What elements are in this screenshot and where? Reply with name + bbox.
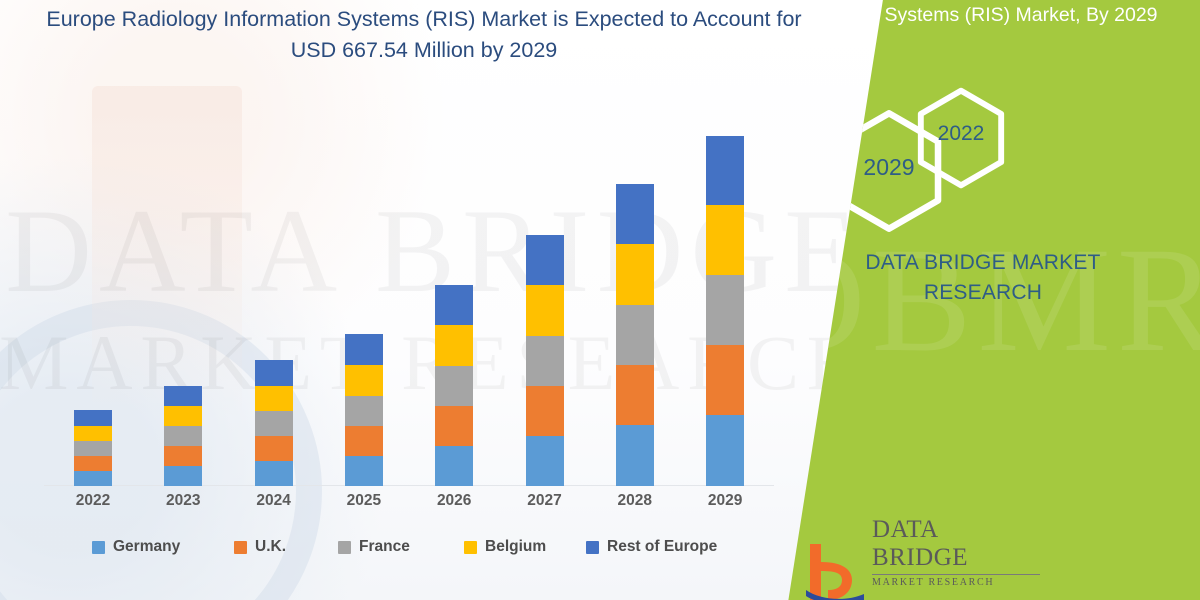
x-axis-label-2027: 2027 bbox=[515, 492, 575, 510]
logo-subtitle: MARKET RESEARCH bbox=[872, 574, 1040, 588]
bar-segment-belgium-2024 bbox=[255, 386, 293, 411]
bar-segment-germany-2022 bbox=[74, 471, 112, 486]
bar-segment-france-2024 bbox=[255, 411, 293, 436]
bar-segment-germany-2023 bbox=[164, 466, 202, 486]
x-axis-labels: 20222023202420252026202720282029 bbox=[0, 492, 800, 518]
legend-swatch-icon bbox=[338, 541, 351, 554]
x-axis-label-2022: 2022 bbox=[63, 492, 123, 510]
infographic-canvas: DATA BRIDGE MARKET RESEARCH Europe Radio… bbox=[0, 0, 1200, 600]
legend-item-belgium[interactable]: Belgium bbox=[464, 538, 546, 556]
bar-segment-rest-of-europe-2022 bbox=[74, 410, 112, 426]
logo-bridge-icon bbox=[800, 540, 866, 600]
legend-swatch-icon bbox=[234, 541, 247, 554]
bar-segment-rest-of-europe-2026 bbox=[435, 285, 473, 325]
legend-label: Germany bbox=[113, 538, 180, 556]
bar-segment-belgium-2027 bbox=[526, 285, 564, 336]
legend-swatch-icon bbox=[92, 541, 105, 554]
x-axis-label-2029: 2029 bbox=[695, 492, 755, 510]
legend-swatch-icon bbox=[586, 541, 599, 554]
bar-segment-u-k-2022 bbox=[74, 456, 112, 471]
bar-segment-belgium-2028 bbox=[616, 244, 654, 305]
bar-2023 bbox=[164, 386, 202, 486]
bar-segment-u-k-2028 bbox=[616, 365, 654, 425]
bar-segment-belgium-2029 bbox=[706, 205, 744, 275]
chart-plot-area bbox=[0, 110, 800, 486]
bar-2028 bbox=[616, 184, 654, 486]
chart-legend: GermanyU.K.FranceBelgiumRest of Europe bbox=[0, 538, 800, 566]
brand-name-line-2: RESEARCH bbox=[780, 278, 1186, 308]
legend-item-germany[interactable]: Germany bbox=[92, 538, 180, 556]
bar-segment-germany-2024 bbox=[255, 461, 293, 486]
bar-segment-rest-of-europe-2023 bbox=[164, 386, 202, 406]
legend-swatch-icon bbox=[464, 541, 477, 554]
bar-segment-germany-2026 bbox=[435, 446, 473, 486]
bar-segment-germany-2027 bbox=[526, 436, 564, 486]
bar-segment-france-2027 bbox=[526, 336, 564, 386]
bar-segment-france-2022 bbox=[74, 441, 112, 456]
legend-label: France bbox=[359, 538, 410, 556]
bar-2026 bbox=[435, 285, 473, 486]
legend-label: Rest of Europe bbox=[607, 538, 717, 556]
legend-item-france[interactable]: France bbox=[338, 538, 410, 556]
bar-2022 bbox=[74, 410, 112, 486]
bar-segment-belgium-2026 bbox=[435, 325, 473, 366]
bar-segment-u-k-2023 bbox=[164, 446, 202, 466]
bar-segment-rest-of-europe-2027 bbox=[526, 235, 564, 285]
bar-2024 bbox=[255, 360, 293, 486]
bar-segment-france-2023 bbox=[164, 426, 202, 446]
x-axis-label-2026: 2026 bbox=[424, 492, 484, 510]
bar-segment-belgium-2023 bbox=[164, 406, 202, 426]
chart-title: Europe Radiology Information Systems (RI… bbox=[44, 0, 804, 65]
bar-2029 bbox=[706, 136, 744, 486]
bar-2025 bbox=[345, 334, 383, 486]
bar-segment-u-k-2029 bbox=[706, 345, 744, 415]
bar-segment-u-k-2026 bbox=[435, 406, 473, 446]
hexagon-2022-label: 2022 bbox=[916, 122, 1006, 146]
bar-segment-belgium-2025 bbox=[345, 365, 383, 396]
stacked-bars-group bbox=[0, 110, 800, 486]
bar-segment-u-k-2027 bbox=[526, 386, 564, 436]
bar-segment-france-2026 bbox=[435, 366, 473, 406]
x-axis-label-2025: 2025 bbox=[334, 492, 394, 510]
bar-segment-france-2025 bbox=[345, 396, 383, 426]
bar-segment-rest-of-europe-2028 bbox=[616, 184, 654, 244]
bar-segment-france-2029 bbox=[706, 275, 744, 345]
bar-segment-rest-of-europe-2024 bbox=[255, 360, 293, 386]
bar-segment-germany-2025 bbox=[345, 456, 383, 486]
hexagon-2022: 2022 bbox=[916, 88, 1006, 188]
bar-segment-u-k-2024 bbox=[255, 436, 293, 461]
bar-2027 bbox=[526, 235, 564, 486]
bar-segment-belgium-2022 bbox=[74, 426, 112, 441]
bar-segment-germany-2029 bbox=[706, 415, 744, 486]
legend-label: U.K. bbox=[255, 538, 286, 556]
logo-wordmark: DATA BRIDGE MARKET RESEARCH bbox=[872, 516, 1040, 588]
bar-segment-u-k-2025 bbox=[345, 426, 383, 456]
bar-segment-france-2028 bbox=[616, 305, 654, 365]
x-axis-label-2024: 2024 bbox=[244, 492, 304, 510]
legend-item-rest-of-europe[interactable]: Rest of Europe bbox=[586, 538, 717, 556]
panel-title: Systems (RIS) Market, By 2029 bbox=[856, 2, 1186, 28]
logo-name: DATA BRIDGE bbox=[872, 516, 1040, 572]
company-logo: DATA BRIDGE MARKET RESEARCH bbox=[800, 530, 1040, 600]
bar-segment-rest-of-europe-2029 bbox=[706, 136, 744, 205]
x-axis-label-2023: 2023 bbox=[153, 492, 213, 510]
x-axis-label-2028: 2028 bbox=[605, 492, 665, 510]
bar-segment-rest-of-europe-2025 bbox=[345, 334, 383, 365]
bar-segment-germany-2028 bbox=[616, 425, 654, 486]
legend-item-u-k[interactable]: U.K. bbox=[234, 538, 286, 556]
legend-label: Belgium bbox=[485, 538, 546, 556]
